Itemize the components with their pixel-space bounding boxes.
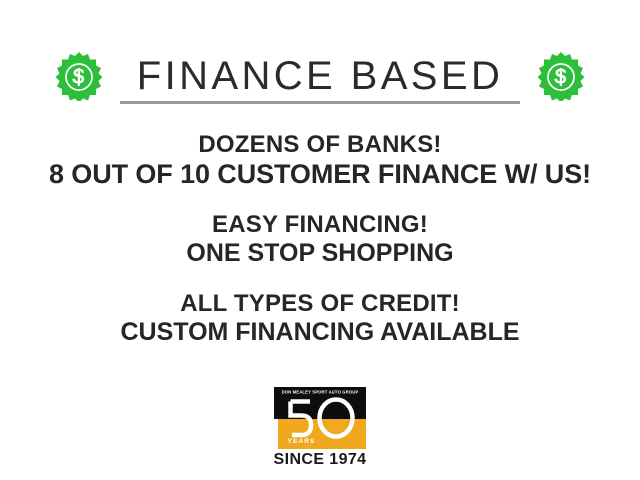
copy-subline-credit: CUSTOM FINANCING AVAILABLE	[0, 318, 640, 347]
gear-dollar-icon-right	[536, 51, 586, 101]
copy-subline-easy-financing: ONE STOP SHOPPING	[0, 239, 640, 268]
copy-headline-easy-financing: EASY FINANCING!	[0, 211, 640, 239]
copy-block-easy-financing: EASY FINANCING! ONE STOP SHOPPING	[0, 211, 640, 268]
header-inner: FINANCE BASED	[54, 51, 586, 101]
fifty-years-badge: DON MEALEY SPORT AUTO GROUP YEARS	[274, 387, 366, 449]
dealer-logo: DON MEALEY SPORT AUTO GROUP YEARS SINCE …	[0, 387, 640, 469]
gear-dollar-icon-left	[54, 51, 104, 101]
body-copy: DOZENS OF BANKS! 8 OUT OF 10 CUSTOMER FI…	[0, 131, 640, 347]
years-label-text: YEARS	[288, 438, 316, 445]
copy-headline-banks: DOZENS OF BANKS!	[0, 131, 640, 159]
dealer-name-text: DON MEALEY SPORT AUTO GROUP	[282, 390, 359, 395]
copy-subline-banks: 8 OUT OF 10 CUSTOMER FINANCE W/ US!	[0, 159, 640, 189]
since-label: SINCE 1974	[274, 451, 367, 469]
header-divider	[120, 101, 520, 104]
copy-block-banks: DOZENS OF BANKS! 8 OUT OF 10 CUSTOMER FI…	[0, 131, 640, 189]
copy-block-credit: ALL TYPES OF CREDIT! CUSTOM FINANCING AV…	[0, 290, 640, 347]
copy-headline-credit: ALL TYPES OF CREDIT!	[0, 290, 640, 318]
page-title: FINANCE BASED	[104, 56, 536, 96]
finance-based-slide: FINANCE BASED DOZEN	[0, 0, 640, 480]
